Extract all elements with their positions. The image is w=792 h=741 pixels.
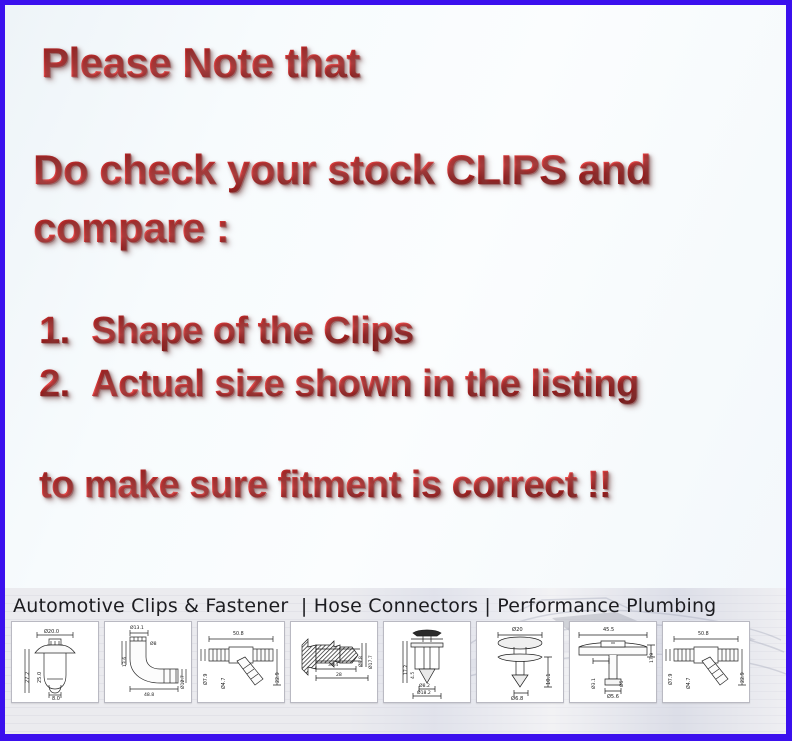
mushroom-head-clip-drawing: Ø20 Ø6.8 10.1 (478, 623, 562, 701)
svg-text:Ø18.2: Ø18.2 (417, 689, 431, 696)
svg-text:Ø7.9: Ø7.9 (667, 674, 674, 685)
svg-text:50.8: 50.8 (233, 631, 244, 637)
thumbnail-ribbed-push-pin[interactable]: 39.4 28 Ø9.8 Ø17.7 (290, 621, 378, 703)
panel-rivet-clip-drawing: Ø8.2 Ø18.2 17.2 4.5 (385, 623, 469, 701)
checklist-item-number: 2. (39, 358, 91, 411)
checklist-item: 1. Shape of the Clips (39, 305, 786, 358)
t-shaped-clip-drawing: 45.5 Ø5.6 17.9 Ø3.1 Ø5 (571, 623, 655, 701)
thumbnail-elbow-hose-connector[interactable]: Ø13.1 Ø8 48.8 13.6 Ø12.7 (104, 621, 192, 703)
svg-text:Ø7.9: Ø7.9 (202, 674, 209, 685)
svg-text:Ø20: Ø20 (512, 626, 523, 633)
svg-text:39.4: 39.4 (328, 662, 338, 668)
svg-text:Ø8: Ø8 (150, 640, 157, 647)
svg-text:Ø8.2: Ø8.2 (419, 682, 430, 689)
notice-instruction-line-2: compare : (33, 199, 786, 257)
thumbnail-y-barb-connector[interactable]: 50.8 Ø7.9 Ø4.7 22.9 (197, 621, 285, 703)
svg-text:17.2: 17.2 (403, 665, 409, 675)
thumbnail-mushroom-head-clip[interactable]: Ø20 Ø6.8 10.1 (476, 621, 564, 703)
checklist-item: 2. Actual size shown in the listing (39, 358, 786, 411)
svg-text:Ø17.7: Ø17.7 (367, 655, 374, 669)
notice-banner: Please Note that Do check your stock CLI… (0, 0, 792, 741)
svg-text:48.8: 48.8 (144, 692, 154, 698)
svg-text:28: 28 (336, 672, 342, 678)
thumbnail-y-hose-barb-connector[interactable]: 50.8 Ø7.9 Ø4.7 22.9 (662, 621, 750, 703)
svg-text:13.6: 13.6 (122, 657, 128, 667)
notice-area: Please Note that Do check your stock CLI… (5, 5, 786, 588)
svg-text:22.9: 22.9 (275, 672, 281, 683)
checklist-item-label: Actual size shown in the listing (91, 358, 639, 411)
svg-text:Ø13.1: Ø13.1 (130, 624, 144, 631)
svg-text:50.8: 50.8 (698, 631, 709, 637)
svg-text:4.5: 4.5 (410, 672, 416, 679)
y-hose-barb-connector-drawing: 50.8 Ø7.9 Ø4.7 22.9 (664, 623, 748, 701)
elbow-hose-connector-drawing: Ø13.1 Ø8 48.8 13.6 Ø12.7 (106, 623, 190, 701)
svg-text:25.0: 25.0 (37, 672, 43, 683)
svg-text:27.2: 27.2 (25, 672, 31, 683)
svg-text:Ø4.7: Ø4.7 (220, 678, 227, 689)
notice-closing-line: to make sure fitment is correct !! (39, 459, 786, 511)
svg-text:Ø12.7: Ø12.7 (179, 675, 186, 689)
svg-text:Ø3.1: Ø3.1 (590, 678, 597, 689)
svg-text:17.9: 17.9 (649, 653, 655, 663)
checklist-item-label: Shape of the Clips (91, 305, 413, 358)
svg-text:45.5: 45.5 (603, 627, 614, 633)
svg-text:Ø5.6: Ø5.6 (607, 693, 619, 700)
thumbnail-panel-rivet-clip[interactable]: Ø8.2 Ø18.2 17.2 4.5 (383, 621, 471, 703)
notice-checklist: 1. Shape of the Clips 2. Actual size sho… (39, 305, 786, 411)
thumbnail-t-shaped-clip[interactable]: 45.5 Ø5.6 17.9 Ø3.1 Ø5 (569, 621, 657, 703)
notice-heading: Please Note that (41, 33, 786, 93)
svg-text:Ø20.0: Ø20.0 (44, 628, 59, 635)
push-rivet-clip-drawing: Ø20.0 8.0 27.2 25.0 (13, 623, 97, 701)
product-thumbnail-row: Ø20.0 8.0 27.2 25.0 (5, 617, 786, 703)
svg-text:Ø5: Ø5 (618, 680, 625, 687)
svg-text:10.1: 10.1 (546, 673, 552, 685)
svg-text:8.0: 8.0 (52, 696, 60, 701)
checklist-item-number: 1. (39, 305, 91, 358)
notice-instruction-line-1: Do check your stock CLIPS and (33, 141, 786, 199)
svg-text:Ø6.8: Ø6.8 (511, 695, 523, 701)
footer-tagline: Automotive Clips & Fastener | Hose Conne… (5, 588, 786, 617)
thumbnail-push-rivet-clip[interactable]: Ø20.0 8.0 27.2 25.0 (11, 621, 99, 703)
y-barb-connector-drawing: 50.8 Ø7.9 Ø4.7 22.9 (199, 623, 283, 701)
ribbed-push-pin-drawing: 39.4 28 Ø9.8 Ø17.7 (292, 623, 376, 701)
svg-text:Ø4.7: Ø4.7 (685, 678, 692, 689)
svg-text:Ø9.8: Ø9.8 (357, 656, 364, 667)
svg-text:22.9: 22.9 (740, 672, 746, 683)
footer-bar: Automotive Clips & Fastener | Hose Conne… (5, 588, 786, 734)
